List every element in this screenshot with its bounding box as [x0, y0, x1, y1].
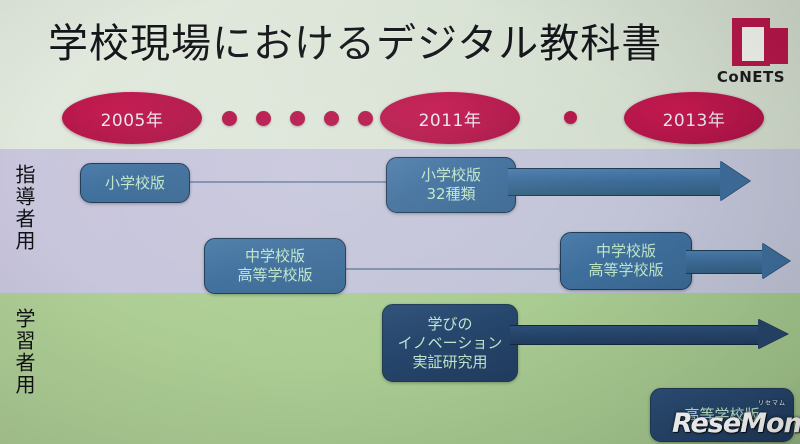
timeline-dot: [256, 111, 271, 126]
timeline-dot: [324, 111, 339, 126]
timeline-dot: [564, 111, 577, 124]
arrow-elementary-ongoing: [508, 168, 750, 194]
timeline-milestone-2013: 2013年: [624, 92, 764, 144]
connector-elementary: [186, 181, 394, 183]
box-elementary-2011: 小学校版 32種類: [386, 157, 516, 213]
timeline-milestone-2005: 2005年: [62, 92, 202, 144]
box-line: 高等学校版: [588, 261, 663, 280]
section-label-learner: 学習者用: [10, 308, 39, 396]
presentation-slide: 学校現場におけるデジタル教科書 CoNETS 2005年 2011年 2013年…: [0, 0, 800, 444]
timeline-dot: [222, 111, 237, 126]
timeline-label-2005: 2005年: [101, 106, 164, 131]
resemom-watermark: リセマム ReseMom.: [672, 398, 796, 440]
logo-text: CoNETS: [712, 68, 790, 86]
timeline-dot: [358, 111, 373, 126]
slide-title: 学校現場におけるデジタル教科書: [48, 16, 668, 72]
timeline-label-2011: 2011年: [419, 106, 482, 131]
box-line: 高等学校版: [237, 266, 312, 285]
timeline-label-2013: 2013年: [663, 106, 726, 131]
box-line: 中学校版: [245, 247, 305, 266]
box-learning-innovation: 学びの イノベーション 実証研究用: [382, 304, 518, 382]
box-line: 中学校版: [596, 242, 656, 261]
box-line: 小学校版: [421, 166, 481, 185]
section-label-teacher: 指導者用: [10, 164, 39, 252]
connector-junior-high: [344, 268, 566, 270]
arrow-junior-high-ongoing: [686, 250, 792, 272]
box-line: イノベーション: [398, 334, 503, 353]
box-junior-high-2013: 中学校版 高等学校版: [560, 232, 692, 290]
box-line: 学びの: [427, 315, 472, 334]
logo-inner-white: [742, 27, 764, 61]
box-junior-high-2008: 中学校版 高等学校版: [204, 238, 346, 294]
timeline-milestone-2011: 2011年: [380, 92, 520, 144]
watermark-text: ReseMom.: [672, 408, 800, 439]
box-elementary-2005: 小学校版: [80, 163, 190, 203]
box-line: 実証研究用: [412, 353, 487, 372]
timeline-dot: [290, 111, 305, 126]
box-line: 小学校版: [105, 174, 165, 193]
box-line: 32種類: [426, 185, 475, 204]
watermark-subtext: リセマム: [758, 398, 786, 407]
conets-logo: CoNETS: [712, 14, 790, 92]
arrow-innovation-ongoing: [510, 325, 788, 343]
